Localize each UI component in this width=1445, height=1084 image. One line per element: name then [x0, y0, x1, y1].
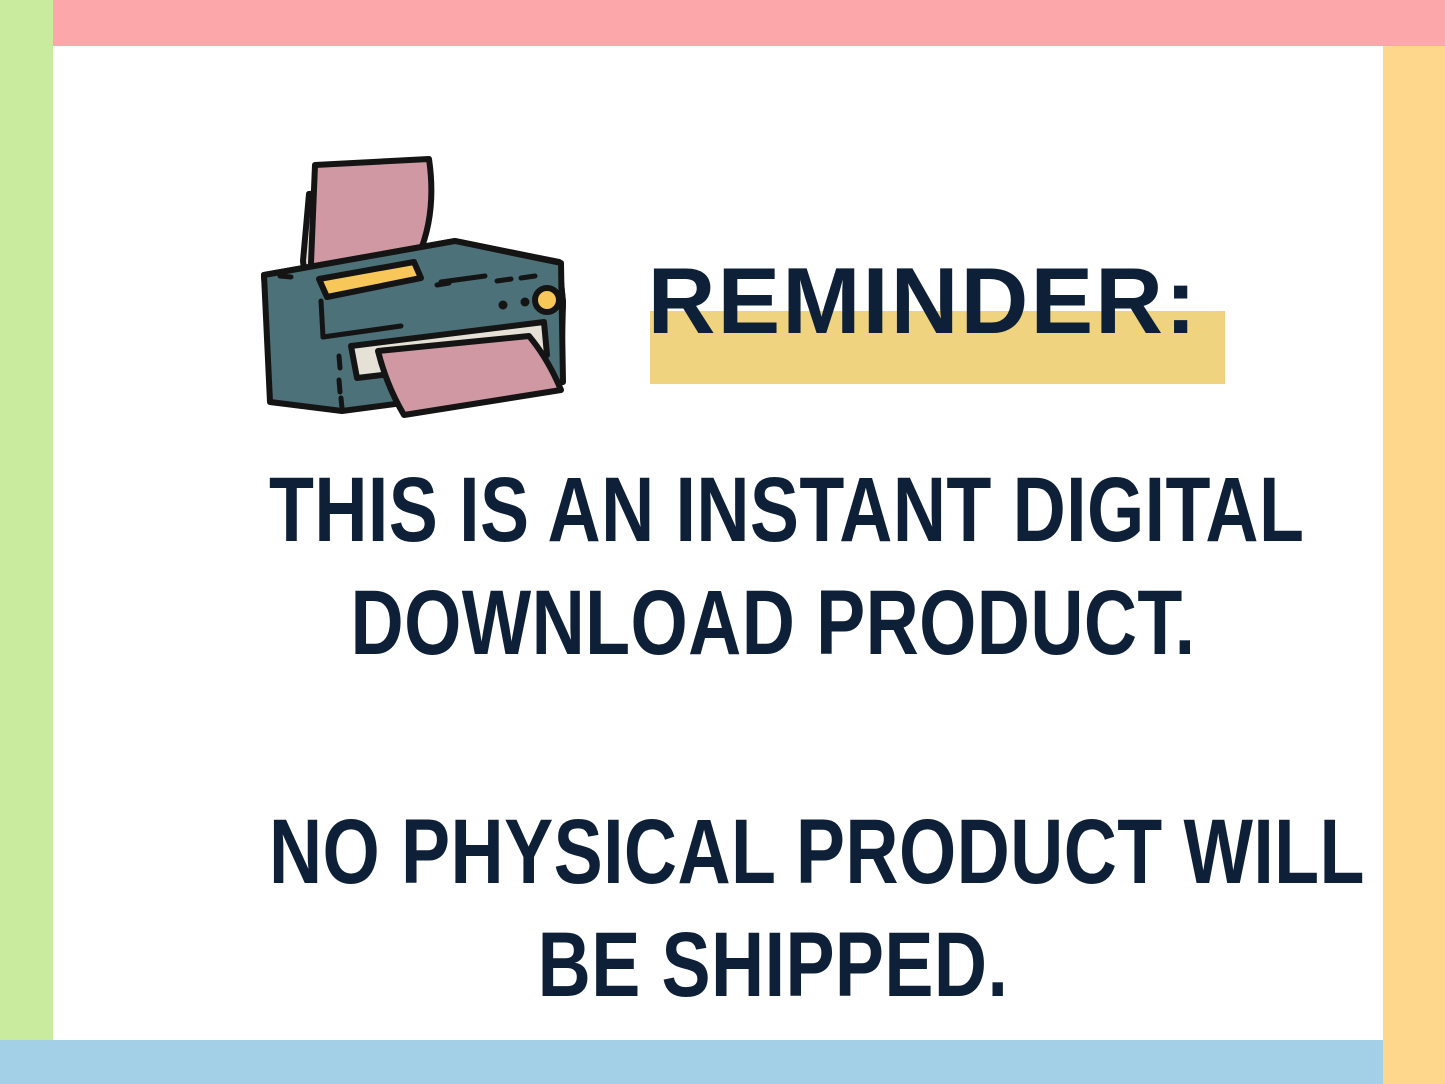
copy-line-2: DOWNLOAD PRODUCT. [269, 567, 1277, 680]
body-copy: THIS IS AN INSTANT DIGITAL DOWNLOAD PROD… [143, 454, 1403, 1022]
printer-icon [239, 150, 599, 420]
bottom-color-band [0, 1040, 1383, 1084]
left-color-band [0, 0, 53, 1040]
copy-line-3: NO PHYSICAL PRODUCT WILL [269, 796, 1277, 909]
copy-line-1: THIS IS AN INSTANT DIGITAL [269, 454, 1277, 567]
top-color-band [53, 0, 1445, 46]
page-title: REMINDER: [613, 251, 1233, 351]
copy-line-4: BE SHIPPED. [269, 909, 1277, 1022]
copy-paragraph-spacer [143, 680, 1403, 796]
content-card: REMINDER: THIS IS AN INSTANT DIGITAL DOW… [53, 46, 1383, 1040]
heading-block: REMINDER: [613, 251, 1293, 396]
reminder-graphic: REMINDER: THIS IS AN INSTANT DIGITAL DOW… [0, 0, 1445, 1084]
